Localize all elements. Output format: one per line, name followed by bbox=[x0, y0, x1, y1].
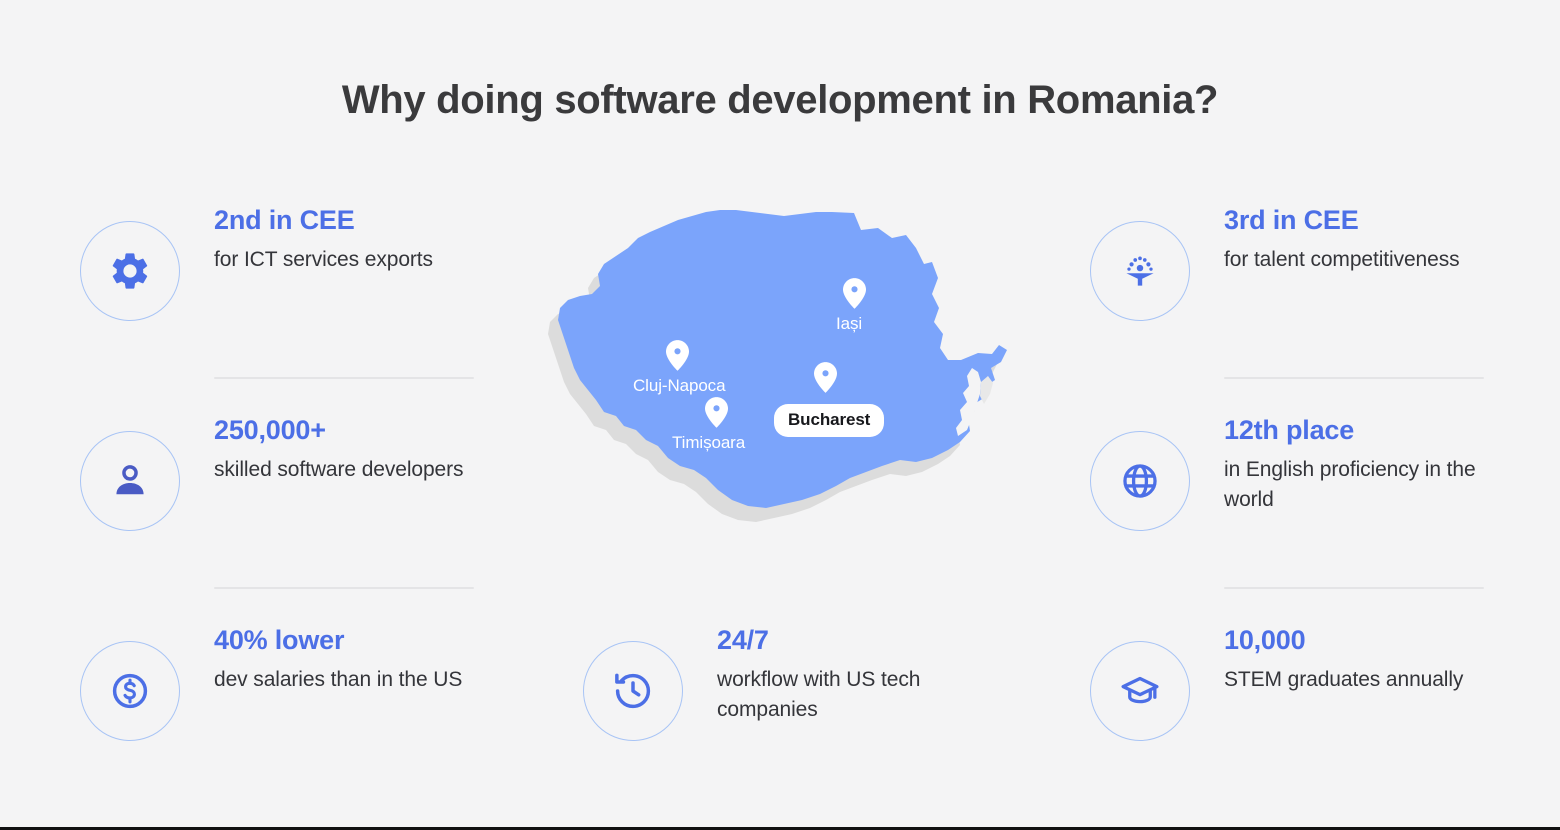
stat-text-block: 10,000 STEM graduates annually bbox=[1224, 625, 1499, 695]
globe-icon bbox=[1090, 431, 1190, 531]
romania-map: Iași Cluj-Napoca Timișoara Bucharest bbox=[540, 190, 1040, 560]
stat-divider bbox=[1224, 377, 1484, 379]
stat-text-block: 40% lower dev salaries than in the US bbox=[214, 625, 480, 695]
stat-description: in English proficiency in the world bbox=[1224, 455, 1499, 515]
stat-item-stem-graduates: 10,000 STEM graduates annually bbox=[1090, 625, 1490, 785]
graduation-cap-icon bbox=[1090, 641, 1190, 741]
stat-text-block: 12th place in English proficiency in the… bbox=[1224, 415, 1499, 514]
right-stats-column: 3rd in CEE for talent competitiveness 12… bbox=[1090, 205, 1490, 785]
stat-description: skilled software developers bbox=[214, 455, 480, 485]
romania-map-svg bbox=[540, 190, 1040, 560]
map-label-timisoara: Timișoara bbox=[672, 433, 745, 453]
stat-text-block: 2nd in CEE for ICT services exports bbox=[214, 205, 480, 275]
stat-text-block: 3rd in CEE for talent competitiveness bbox=[1224, 205, 1499, 275]
map-pin-cluj-napoca[interactable] bbox=[666, 340, 689, 371]
stat-headline: 3rd in CEE bbox=[1224, 205, 1499, 237]
map-label-bucharest: Bucharest bbox=[774, 404, 884, 437]
stat-item-talent: 3rd in CEE for talent competitiveness bbox=[1090, 205, 1490, 415]
stat-text-block: 24/7 workflow with US tech companies bbox=[717, 625, 983, 724]
map-pin-bucharest[interactable] bbox=[814, 362, 837, 393]
stat-item-ict-exports: 2nd in CEE for ICT services exports bbox=[80, 205, 480, 415]
stat-text-block: 250,000+ skilled software developers bbox=[214, 415, 480, 485]
stat-item-salaries: 40% lower dev salaries than in the US bbox=[80, 625, 480, 785]
romania-outline bbox=[558, 210, 1007, 508]
stat-divider bbox=[214, 587, 474, 589]
left-stats-column: 2nd in CEE for ICT services exports 250,… bbox=[80, 205, 480, 785]
stat-headline: 250,000+ bbox=[214, 415, 480, 447]
dollar-circle-icon bbox=[80, 641, 180, 741]
clock-history-icon bbox=[583, 641, 683, 741]
stat-description: dev salaries than in the US bbox=[214, 665, 480, 695]
map-pin-timisoara[interactable] bbox=[705, 397, 728, 428]
stat-divider bbox=[1224, 587, 1484, 589]
stat-headline: 12th place bbox=[1224, 415, 1499, 447]
stat-description: for talent competitiveness bbox=[1224, 245, 1499, 275]
person-icon bbox=[80, 431, 180, 531]
map-label-iasi: Iași bbox=[836, 314, 862, 334]
stat-item-workflow: 24/7 workflow with US tech companies bbox=[583, 625, 983, 785]
stat-headline: 10,000 bbox=[1224, 625, 1499, 657]
stat-headline: 24/7 bbox=[717, 625, 983, 657]
stat-headline: 2nd in CEE bbox=[214, 205, 480, 237]
stat-item-english: 12th place in English proficiency in the… bbox=[1090, 415, 1490, 625]
map-label-cluj-napoca: Cluj-Napoca bbox=[633, 376, 725, 396]
talent-tree-icon bbox=[1090, 221, 1190, 321]
gear-icon bbox=[80, 221, 180, 321]
stat-description: for ICT services exports bbox=[214, 245, 480, 275]
stat-divider bbox=[214, 377, 474, 379]
stat-description: workflow with US tech companies bbox=[717, 665, 983, 725]
stat-headline: 40% lower bbox=[214, 625, 480, 657]
stat-item-developers: 250,000+ skilled software developers bbox=[80, 415, 480, 625]
page-title: Why doing software development in Romani… bbox=[0, 78, 1560, 123]
map-pin-iasi[interactable] bbox=[843, 278, 866, 309]
stat-description: STEM graduates annually bbox=[1224, 665, 1499, 695]
